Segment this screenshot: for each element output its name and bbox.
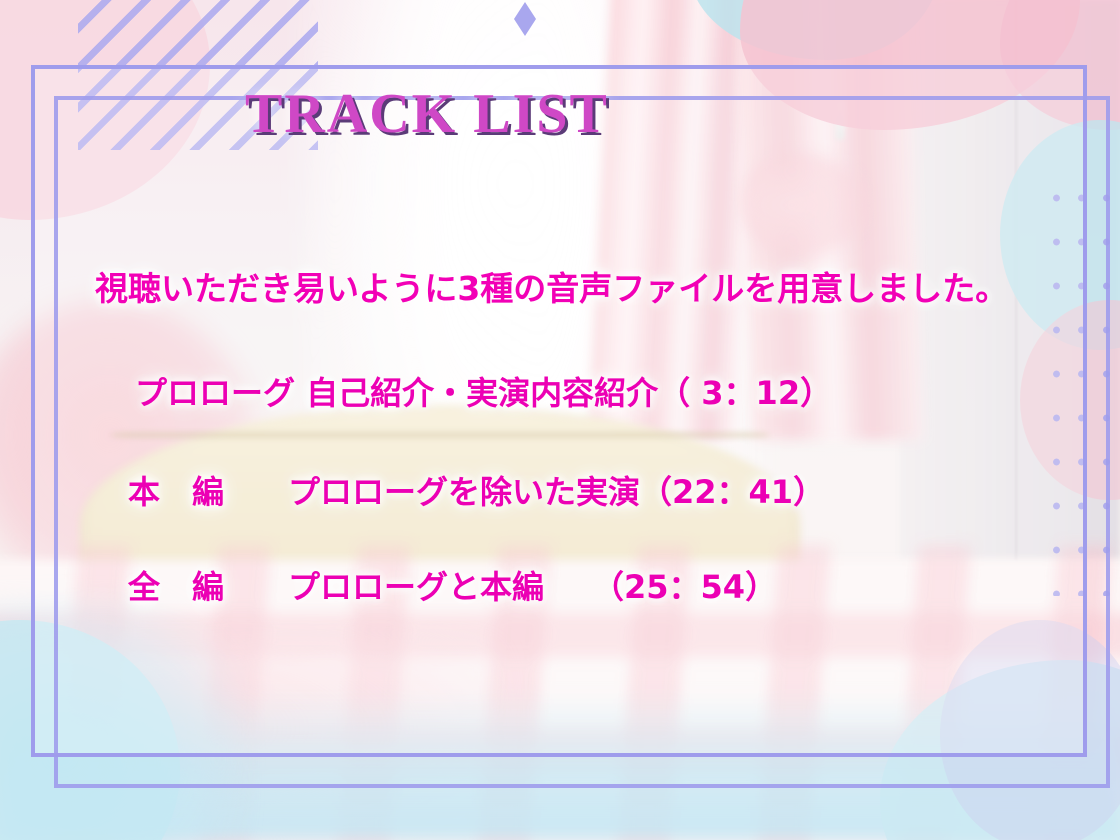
track-list-item: 全 編 プロローグと本編 （25：54） xyxy=(128,562,777,608)
subtitle-text: 視聴いただき易いように3種の音声ファイルを用意しました。 xyxy=(95,262,1008,310)
track-list-item: 本 編 プロローグを除いた実演（22：41） xyxy=(128,467,825,513)
page-title: TRACK LIST xyxy=(245,82,609,146)
track-list-item: プロローグ 自己紹介・実演内容紹介（ 3：12） xyxy=(135,368,832,414)
slide-canvas: TRACK LIST 視聴いただき易いように3種の音声ファイルを用意しました。 … xyxy=(0,0,1120,840)
